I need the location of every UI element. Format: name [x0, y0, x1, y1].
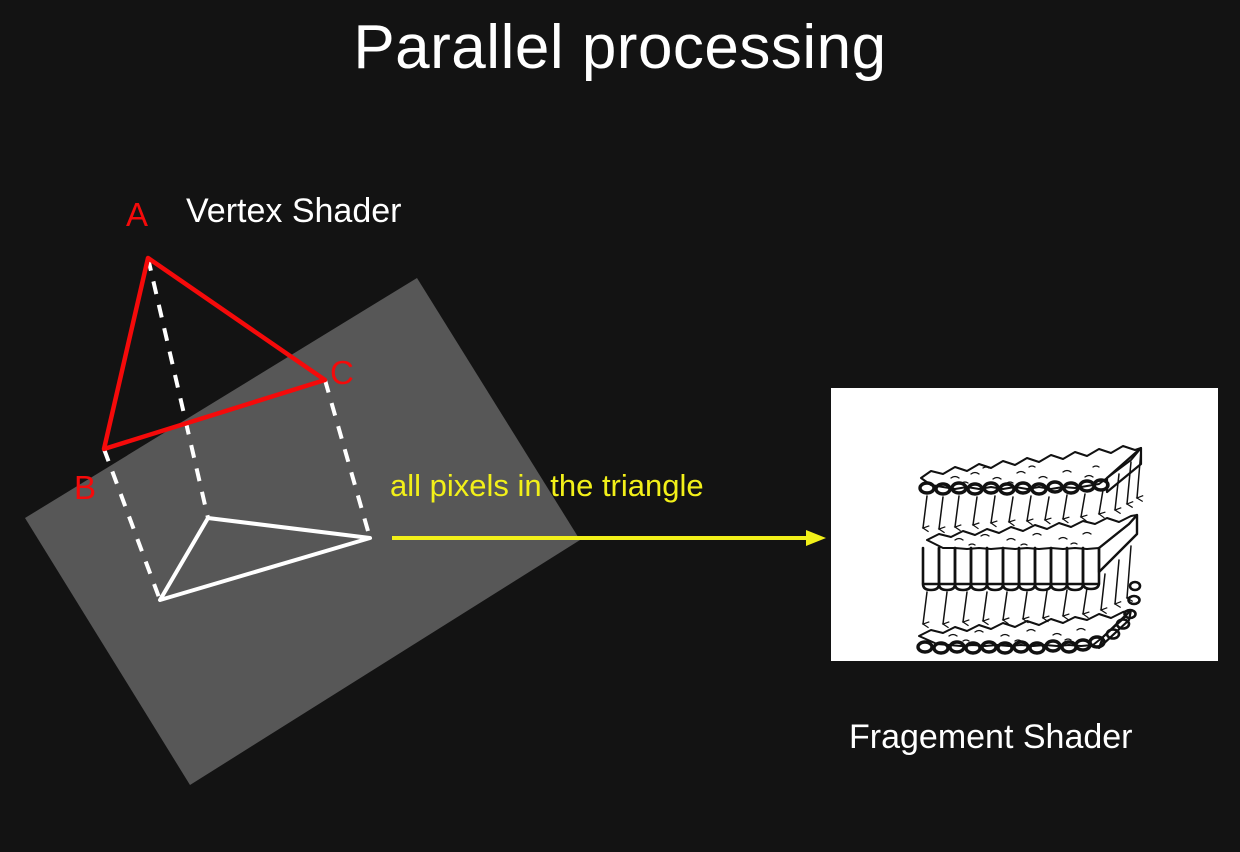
top-slab-texture — [951, 466, 1099, 483]
vertex-shader-label: Vertex Shader — [186, 192, 401, 231]
vertex-label-c: C — [330, 356, 354, 389]
vertex-label-b: B — [74, 471, 96, 504]
pixels-arrow-head — [806, 530, 826, 546]
arrow-caption-label: all pixels in the triangle — [390, 468, 704, 504]
fragment-shader-linework — [831, 388, 1218, 661]
fragment-shader-illustration — [831, 388, 1218, 661]
bottom-slab-right-pebbles — [1107, 582, 1140, 639]
bottom-slab-top-face — [919, 610, 1131, 646]
fragment-shader-label: Fragement Shader — [849, 718, 1133, 757]
top-slab-pebble-row — [920, 480, 1108, 494]
page-title: Parallel processing — [0, 14, 1240, 82]
bottom-slab-pebble-row — [918, 637, 1104, 653]
slide-canvas: Parallel processing Vertex Shader all pi… — [0, 0, 1240, 852]
vertex-label-a: A — [126, 198, 148, 231]
